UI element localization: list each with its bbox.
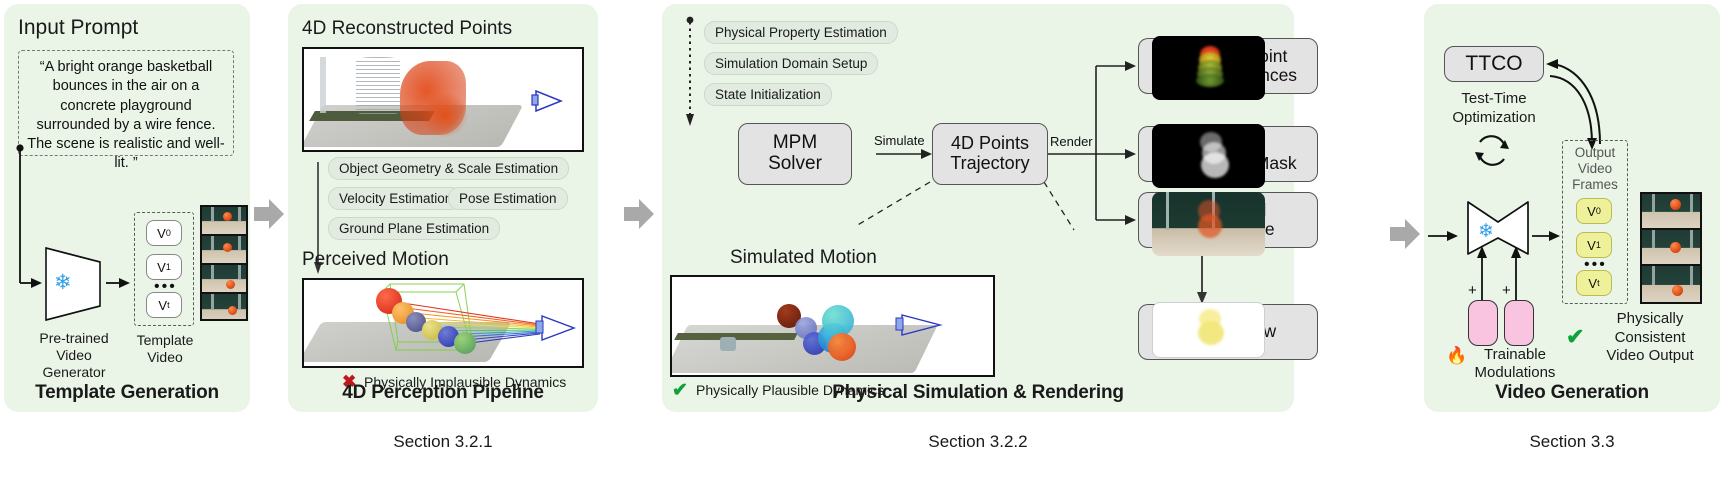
panel-title-video-generation: Video Generation bbox=[1424, 382, 1720, 404]
output-video-filmstrip bbox=[1640, 192, 1702, 304]
pill-ground-plane-estimation: Ground Plane Estimation bbox=[328, 217, 500, 240]
edge-label-simulate: Simulate bbox=[874, 133, 925, 148]
input-prompt-heading: Input Prompt bbox=[18, 16, 138, 40]
pretrained-generator-label: Pre-trainedVideoGenerator bbox=[26, 330, 122, 381]
panel-title-perception: 4D Perception Pipeline bbox=[288, 382, 598, 404]
template-token-v1: V1 bbox=[146, 254, 182, 280]
physically-consistent-text: PhysicallyConsistentVideo Output bbox=[1590, 310, 1710, 366]
reconstructed-points-image bbox=[302, 47, 584, 152]
figure-root: Input Prompt “A bright orange basketball… bbox=[0, 0, 1724, 499]
template-token-vt: Vt bbox=[146, 292, 182, 318]
output-token-v0: V0 bbox=[1576, 198, 1612, 224]
pill-velocity-estimation: Velocity Estimation bbox=[328, 187, 463, 210]
check-icon-consistent: ✔ bbox=[1566, 324, 1584, 350]
perceived-motion-heading: Perceived Motion bbox=[302, 249, 449, 271]
section-label-33: Section 3.3 bbox=[1424, 432, 1720, 452]
template-token-v0: V0 bbox=[146, 220, 182, 246]
simulated-motion-heading: Simulated Motion bbox=[730, 247, 877, 269]
flow-arrow-2 bbox=[622, 196, 656, 237]
perceived-motion-image bbox=[302, 278, 584, 368]
trainable-modulations-label: TrainableModulations bbox=[1444, 346, 1568, 382]
video-generator-shape bbox=[1462, 200, 1534, 276]
output-video-frames-label: OutputVideoFrames bbox=[1564, 145, 1626, 193]
panel-video-generation: TTCO Test-TimeOptimization bbox=[1424, 4, 1720, 412]
node-mpm-solver: MPM Solver bbox=[738, 123, 852, 185]
thumb-optical-flow bbox=[1152, 302, 1265, 358]
pill-physical-property-estimation: Physical Property Estimation bbox=[704, 21, 898, 44]
thumb-projected-point-correspondences bbox=[1152, 36, 1265, 100]
pill-simulation-domain-setup: Simulation Domain Setup bbox=[704, 52, 878, 75]
refresh-cycle-icon bbox=[1472, 132, 1512, 175]
flow-arrow-1 bbox=[252, 196, 286, 237]
panel-title-simulation: Physical Simulation & Rendering bbox=[662, 382, 1294, 404]
snowflake-icon-generator: ❄ bbox=[1478, 220, 1494, 243]
panel-template-generation: Input Prompt “A bright orange basketball… bbox=[4, 4, 250, 412]
snowflake-icon: ❄ bbox=[54, 270, 72, 295]
thumb-dynamic-foreground-mask bbox=[1152, 124, 1265, 188]
thumb-rendered-rgb-frame bbox=[1152, 192, 1265, 256]
section-label-321: Section 3.2.1 bbox=[288, 432, 598, 452]
template-video-filmstrip bbox=[200, 205, 248, 321]
ttco-caption: Test-TimeOptimization bbox=[1444, 90, 1544, 128]
template-video-label: TemplateVideo bbox=[136, 332, 194, 366]
reconstructed-points-heading: 4D Reconstructed Points bbox=[302, 18, 512, 40]
prompt-text-box: “A bright orange basketball bounces in t… bbox=[18, 50, 234, 156]
trainable-modulation-right bbox=[1504, 300, 1534, 346]
pill-state-initialization: State Initialization bbox=[704, 83, 832, 106]
output-token-vt: Vt bbox=[1576, 270, 1612, 296]
panel-perception-pipeline: 4D Reconstructed Points bbox=[288, 4, 598, 412]
trainable-modulation-left bbox=[1468, 300, 1498, 346]
plus-sign-left: + bbox=[1468, 282, 1477, 299]
edge-label-render: Render bbox=[1050, 134, 1093, 149]
node-ttco: TTCO bbox=[1444, 46, 1544, 82]
pretrained-generator-shape bbox=[42, 244, 104, 324]
section-label-322: Section 3.2.2 bbox=[662, 432, 1294, 452]
pill-object-geometry-scale-estimation: Object Geometry & Scale Estimation bbox=[328, 157, 569, 180]
node-4d-points-trajectory: 4D Points Trajectory bbox=[932, 123, 1048, 185]
panel-title-template-generation: Template Generation bbox=[4, 382, 250, 404]
simulated-motion-image bbox=[670, 275, 995, 377]
plus-sign-right: + bbox=[1502, 282, 1511, 299]
output-token-v1: V1 bbox=[1576, 232, 1612, 258]
pill-pose-estimation: Pose Estimation bbox=[448, 187, 568, 210]
flow-arrow-3 bbox=[1388, 216, 1422, 257]
